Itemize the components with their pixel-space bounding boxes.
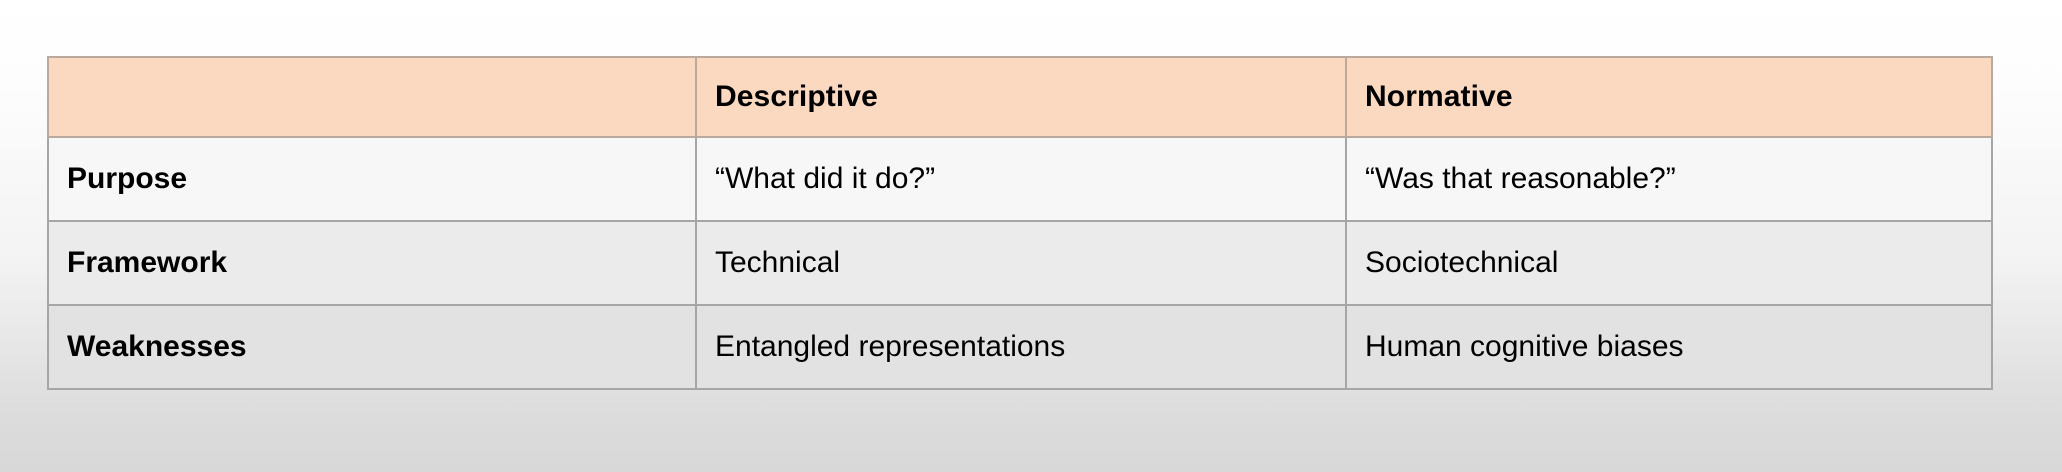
- cell-purpose-descriptive: “What did it do?”: [696, 137, 1346, 221]
- table-body: Purpose “What did it do?” “Was that reas…: [48, 137, 1992, 389]
- table-header-row: Descriptive Normative: [48, 57, 1992, 137]
- cell-text: Technical: [715, 245, 1327, 281]
- cell-text: “Was that reasonable?”: [1365, 161, 1973, 197]
- cell-purpose-normative: “Was that reasonable?”: [1346, 137, 1992, 221]
- cell-text: Sociotechnical: [1365, 245, 1973, 281]
- cell-framework-normative: Sociotechnical: [1346, 221, 1992, 305]
- slide-canvas: Descriptive Normative Purpose “What did …: [0, 0, 2062, 472]
- cell-text: “What did it do?”: [715, 161, 1327, 197]
- row-header-weaknesses: Weaknesses: [48, 305, 696, 389]
- column-header-descriptive: Descriptive: [696, 57, 1346, 137]
- comparison-table: Descriptive Normative Purpose “What did …: [47, 56, 1993, 390]
- row-header-framework: Framework: [48, 221, 696, 305]
- cell-weaknesses-normative: Human cognitive biases: [1346, 305, 1992, 389]
- row-header-purpose: Purpose: [48, 137, 696, 221]
- table-row: Framework Technical Sociotechnical: [48, 221, 1992, 305]
- cell-weaknesses-descriptive: Entangled representations: [696, 305, 1346, 389]
- cell-text: Entangled representations: [715, 329, 1327, 365]
- cell-text: Human cognitive biases: [1365, 329, 1973, 365]
- table-row: Weaknesses Entangled representations Hum…: [48, 305, 1992, 389]
- table-header: Descriptive Normative: [48, 57, 1992, 137]
- cell-framework-descriptive: Technical: [696, 221, 1346, 305]
- column-header-normative: Normative: [1346, 57, 1992, 137]
- column-header-row-label: [48, 57, 696, 137]
- table-row: Purpose “What did it do?” “Was that reas…: [48, 137, 1992, 221]
